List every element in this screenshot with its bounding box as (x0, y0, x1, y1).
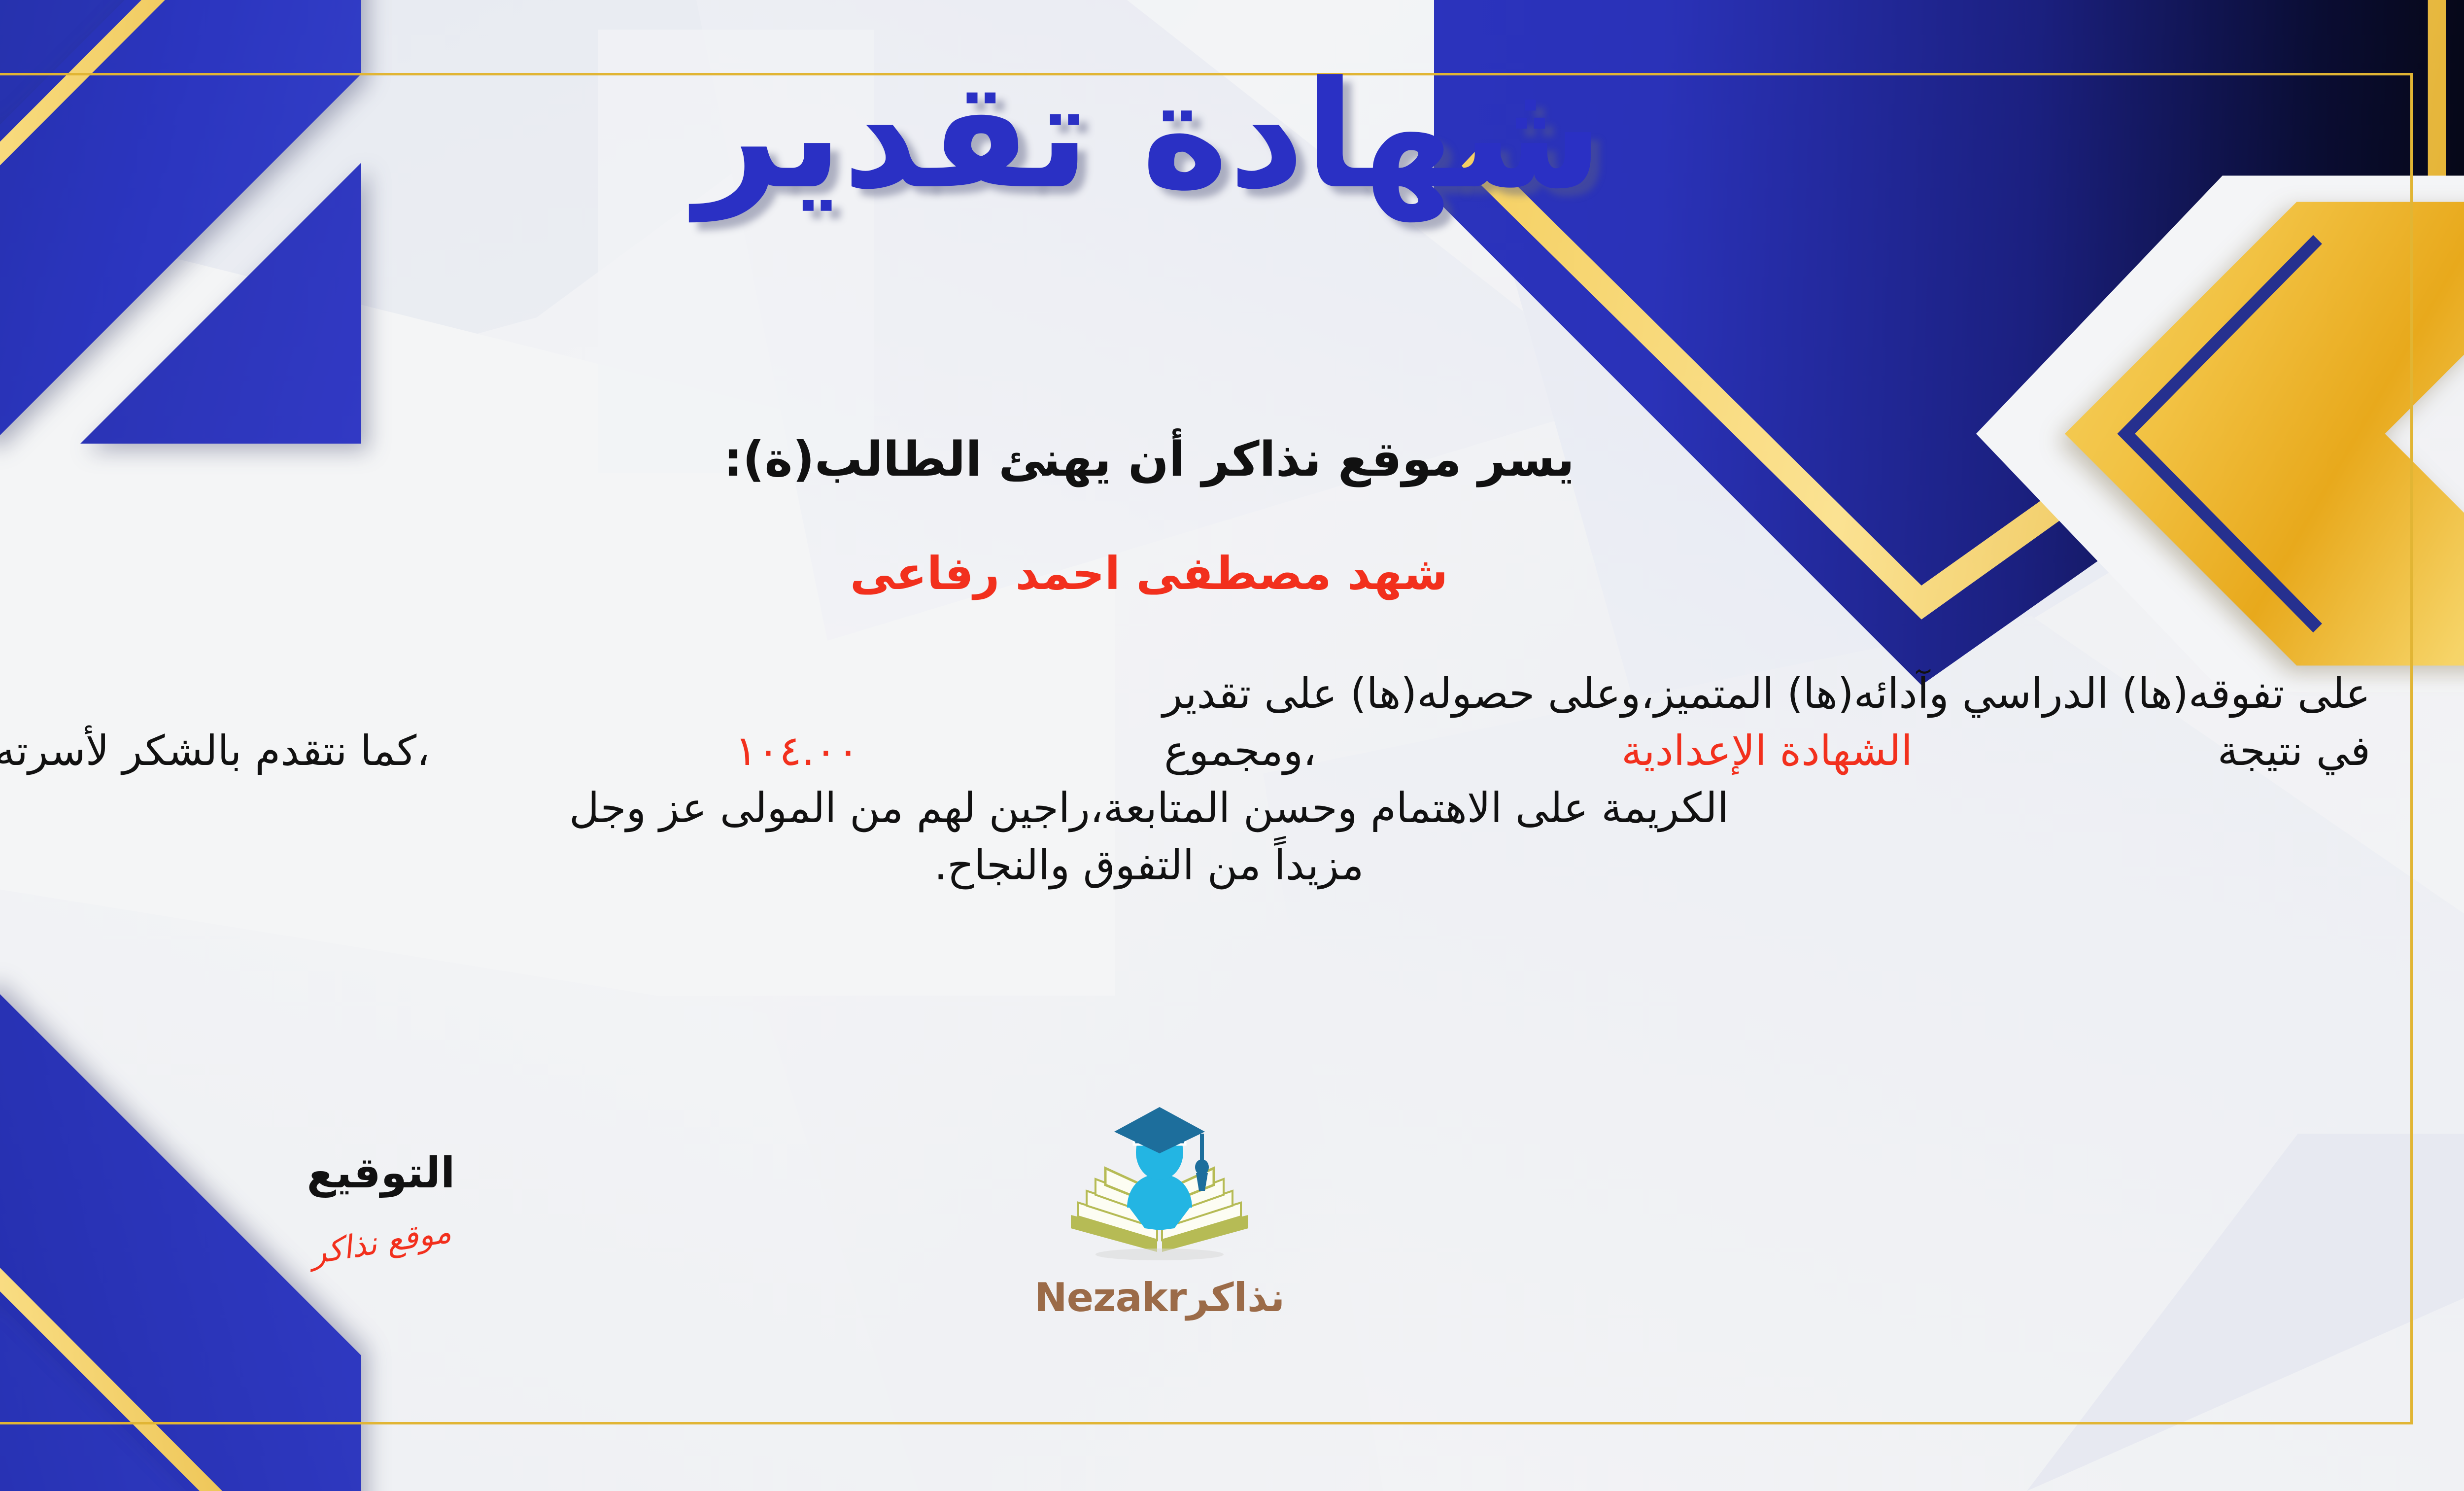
exam-name-value: الشهادة الإعدادية (1621, 723, 1913, 780)
congratulation-intro-text: يسر موقع نذاكر أن يهنئ الطالب(ة): (0, 431, 2464, 487)
body-line-3: الكريمة على الاهتمام وحسن المتابعة،راجين… (0, 780, 2370, 837)
brand-logo-wordmark: نذاكرNezakr (1027, 1275, 1293, 1320)
body-line-2-prefix: في نتيجة (2218, 723, 2370, 780)
certificate-content: شهادة تقدير يسر موقع نذاكر أن يهنئ الطال… (0, 0, 2464, 1491)
total-score-value: ١٠٤.٠٠ (735, 723, 859, 780)
body-line-2-middle: ،ومجموع (1164, 723, 1316, 780)
signature-block: التوقيع موقع نذاكر (208, 1148, 553, 1261)
signature-mark: موقع نذاكر (308, 1214, 453, 1272)
body-line-1: على تفوقه(ها) الدراسي وآدائه(ها) المتميز… (0, 665, 2370, 723)
certificate-canvas: شهادة تقدير يسر موقع نذاكر أن يهنئ الطال… (0, 0, 2464, 1491)
body-line-4: مزيداً من التفوق والنجاح. (0, 837, 2370, 894)
body-line-1-text: على تفوقه(ها) الدراسي وآدائه(ها) المتميز… (1163, 665, 2370, 723)
brand-logo: نذاكرNezakr (1027, 1104, 1293, 1320)
body-line-2-suffix: ،كما نتقدم بالشكر لأسرته(ها) (0, 723, 430, 780)
graduate-book-logo-icon (1056, 1104, 1263, 1272)
student-name: شهد مصطفى احمد رفاعى (0, 547, 2464, 600)
page-title: شهادة تقدير (0, 54, 2464, 217)
signature-label: التوقيع (208, 1148, 553, 1198)
body-line-2: في نتيجة الشهادة الإعدادية ،ومجموع ١٠٤.٠… (0, 723, 2370, 780)
certificate-body: على تفوقه(ها) الدراسي وآدائه(ها) المتميز… (0, 665, 2370, 894)
